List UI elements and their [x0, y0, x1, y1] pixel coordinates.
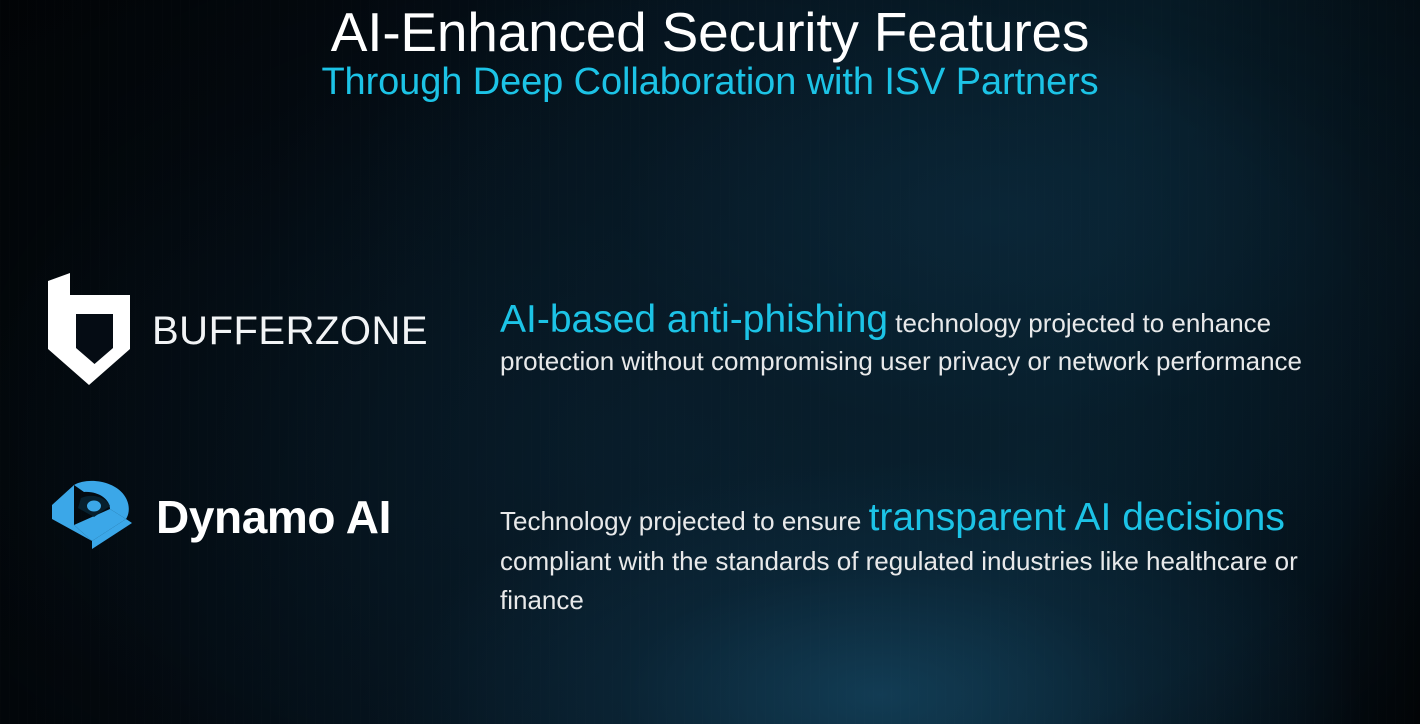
bufferzone-highlight: AI-based anti-phishing [500, 298, 888, 341]
slide-subtitle: Through Deep Collaboration with ISV Part… [0, 60, 1420, 104]
dynamo-ai-wordmark: Dynamo AI [156, 494, 391, 540]
partner-row-dynamo-ai: Dynamo AI Technology projected to ensure… [0, 478, 1420, 621]
bufferzone-wordmark: BUFFERZONE [152, 311, 428, 351]
bufferzone-text-cell: AI-based anti-phishing technology projec… [500, 272, 1420, 380]
dynamo-ai-body-trail: compliant with the standards of regulate… [500, 546, 1298, 616]
bufferzone-description: AI-based anti-phishing technology projec… [500, 272, 1380, 380]
slide-canvas: AI-Enhanced Security Features Through De… [0, 0, 1420, 724]
dynamo-ai-mark-icon [48, 479, 136, 556]
bufferzone-logo: BUFFERZONE [0, 272, 500, 390]
dynamo-ai-highlight: transparent AI decisions [869, 496, 1285, 539]
title-block: AI-Enhanced Security Features Through De… [0, 0, 1420, 104]
dynamo-ai-text-cell: Technology projected to ensure transpare… [500, 478, 1420, 621]
dynamo-ai-logo: Dynamo AI [0, 478, 500, 556]
slide-title: AI-Enhanced Security Features [0, 0, 1420, 60]
partner-row-bufferzone: BUFFERZONE AI-based anti-phishing techno… [0, 272, 1420, 390]
dynamo-ai-body-lead: Technology projected to ensure [500, 506, 869, 536]
bufferzone-shield-icon [48, 273, 130, 390]
dynamo-ai-description: Technology projected to ensure transpare… [500, 478, 1380, 621]
